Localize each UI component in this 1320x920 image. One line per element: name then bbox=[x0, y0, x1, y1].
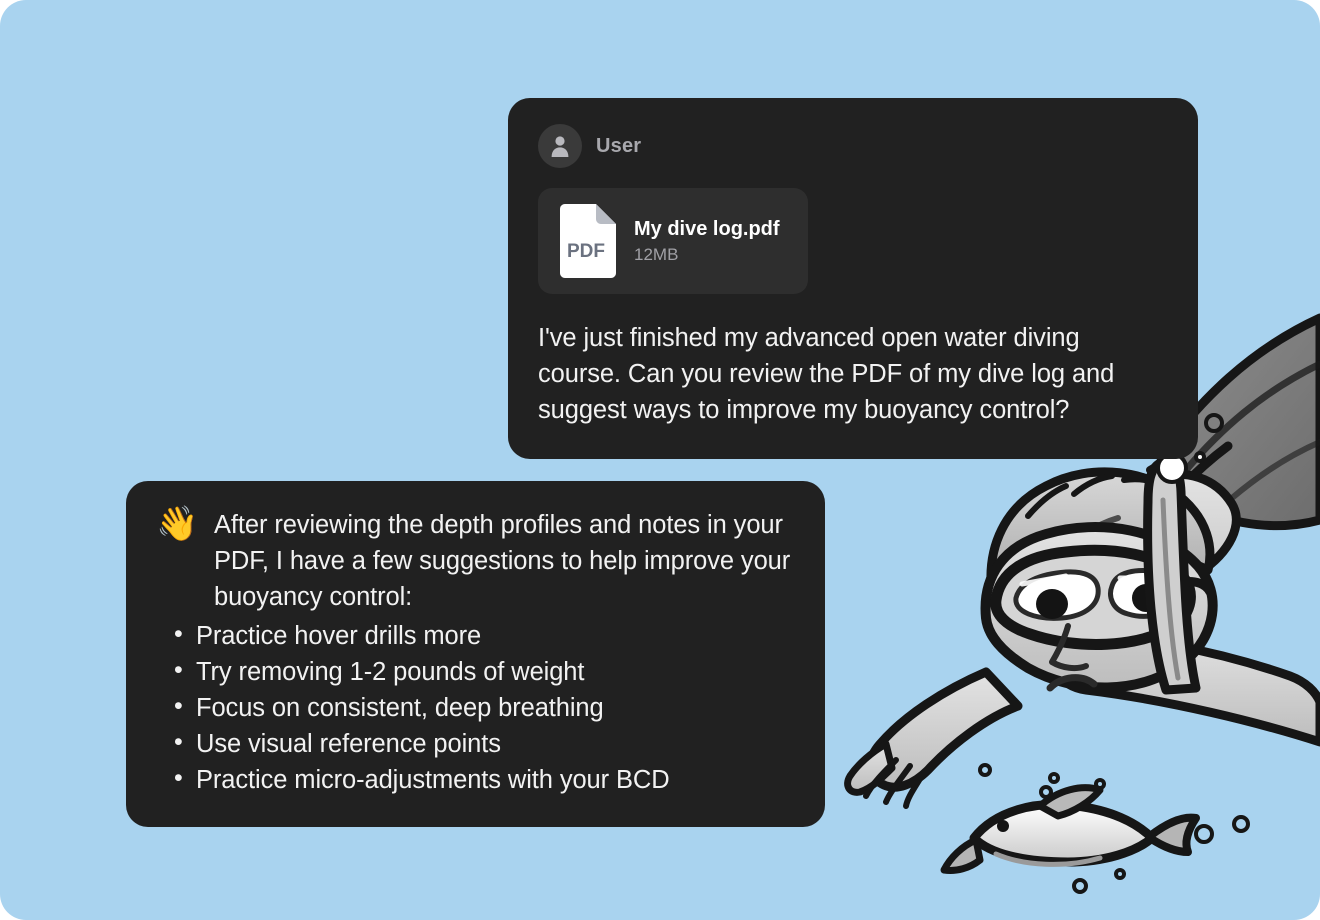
assistant-message-bubble: 👋 After reviewing the depth profiles and… bbox=[126, 481, 825, 827]
dive-mask bbox=[996, 550, 1210, 644]
attachment-file-size: 12MB bbox=[634, 245, 780, 265]
list-item: Practice hover drills more bbox=[174, 618, 795, 654]
assistant-message-intro: 👋 After reviewing the depth profiles and… bbox=[156, 507, 795, 616]
attachment-card[interactable]: PDF My dive log.pdf 12MB bbox=[538, 188, 808, 294]
air-bubbles bbox=[980, 385, 1248, 892]
svg-text:PDF: PDF bbox=[567, 241, 605, 262]
message-author-label: User bbox=[596, 135, 641, 158]
snorkel bbox=[1148, 461, 1196, 690]
list-item: Try removing 1-2 pounds of weight bbox=[174, 654, 795, 690]
fish bbox=[944, 788, 1196, 871]
waving-hand-emoji: 👋 bbox=[156, 507, 200, 543]
suggestion-list: Practice hover drills more Try removing … bbox=[174, 618, 795, 799]
user-avatar-icon bbox=[538, 124, 582, 168]
list-item: Practice micro-adjustments with your BCD bbox=[174, 762, 795, 798]
user-message-text: I've just finished my advanced open wate… bbox=[538, 320, 1168, 429]
list-item: Use visual reference points bbox=[174, 726, 795, 762]
chat-scene: User PDF My dive log.pdf 12MB I've just … bbox=[0, 0, 1320, 920]
attachment-file-name: My dive log.pdf bbox=[634, 218, 780, 241]
user-message-bubble: User PDF My dive log.pdf 12MB I've just … bbox=[508, 98, 1198, 459]
user-message-header: User bbox=[538, 124, 1168, 168]
pdf-file-icon: PDF bbox=[554, 204, 616, 278]
list-item: Focus on consistent, deep breathing bbox=[174, 690, 795, 726]
assistant-intro-text: After reviewing the depth profiles and n… bbox=[214, 507, 795, 616]
diver-left-hand bbox=[848, 744, 924, 806]
